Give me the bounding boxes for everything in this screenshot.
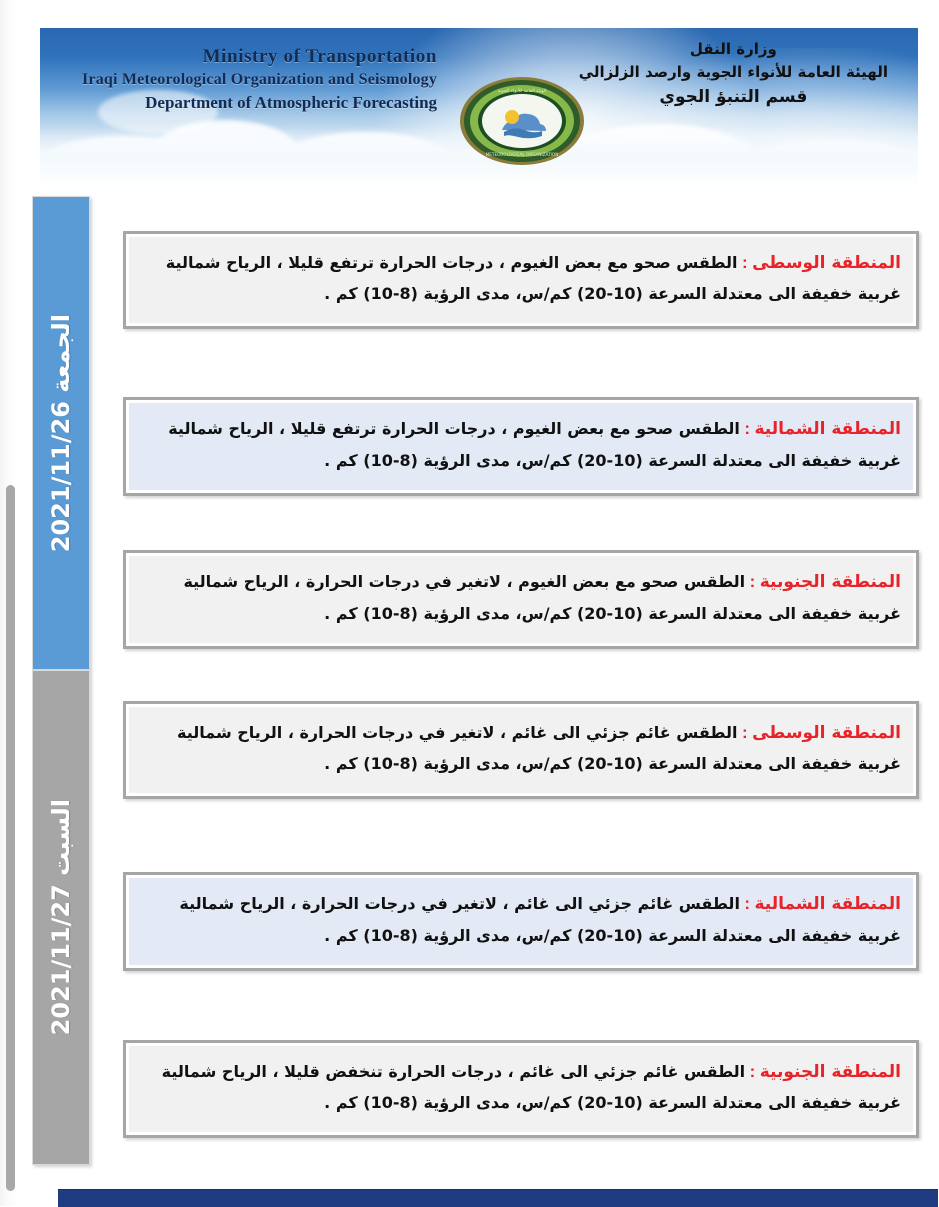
forecast-slot: المنطقة الوسطى : الطقس صحو مع بعض الغيوم… <box>95 196 939 364</box>
region-name: المنطقة الشمالية <box>755 894 902 914</box>
day-group-friday: الجمعة 2021/11/26 المنطقة الوسطى : الطقس… <box>18 196 939 670</box>
region-separator: : <box>744 419 750 438</box>
region-separator: : <box>744 894 750 913</box>
region-separator: : <box>750 572 756 591</box>
forecast-slot: المنطقة الجنوبية : الطقس غائم جزئي الى غ… <box>95 1013 939 1165</box>
forecast-slot: المنطقة الشمالية : الطقس غائم جزئي الى غ… <box>95 830 939 1013</box>
forecast-box: المنطقة الشمالية : الطقس غائم جزئي الى غ… <box>123 872 919 970</box>
department-title-en: Department of Atmospheric Forecasting <box>96 93 437 113</box>
forecast-box-inner: المنطقة الشمالية : الطقس صحو مع بعض الغي… <box>129 403 913 489</box>
day-date-label-friday: الجمعة 2021/11/26 <box>32 196 90 670</box>
region-separator: : <box>742 253 748 272</box>
day-group-saturday: السبت 2021/11/27 المنطقة الوسطى : الطقس … <box>18 670 939 1165</box>
organization-header-banner: Ministry of Transportation Iraqi Meteoro… <box>40 28 918 188</box>
region-separator: : <box>742 723 748 742</box>
region-name: المنطقة الجنوبية <box>760 572 901 592</box>
region-name: المنطقة الشمالية <box>755 419 902 439</box>
day-date-text: الجمعة 2021/11/26 <box>47 314 75 552</box>
organization-seal-icon: الهيئة العامة للأنواء الجوية METEOROLOGI… <box>458 76 586 166</box>
forecast-slot: المنطقة الوسطى : الطقس غائم جزئي الى غائ… <box>95 670 939 830</box>
region-name: المنطقة الوسطى <box>752 253 901 273</box>
region-name: المنطقة الوسطى <box>752 723 901 743</box>
footer-bar <box>58 1189 938 1207</box>
day-date-text: السبت 2021/11/27 <box>47 799 75 1035</box>
forecast-box: المنطقة الوسطى : الطقس غائم جزئي الى غائ… <box>123 701 919 799</box>
organization-title-ar: الهيئة العامة للأنواء الجوية وارصد الزلز… <box>579 63 888 81</box>
day-date-label-saturday: السبت 2021/11/27 <box>32 670 90 1165</box>
svg-text:الهيئة العامة للأنواء الجوية: الهيئة العامة للأنواء الجوية <box>498 87 547 94</box>
english-organization-title: Ministry of Transportation Iraqi Meteoro… <box>82 46 437 113</box>
region-column-friday: المنطقة الوسطى : الطقس صحو مع بعض الغيوم… <box>95 196 939 670</box>
forecast-body: الجمعة 2021/11/26 المنطقة الوسطى : الطقس… <box>18 196 939 1162</box>
region-separator: : <box>750 1062 756 1081</box>
region-column-saturday: المنطقة الوسطى : الطقس غائم جزئي الى غائ… <box>95 670 939 1165</box>
region-name: المنطقة الجنوبية <box>760 1062 901 1082</box>
forecast-box: المنطقة الجنوبية : الطقس صحو مع بعض الغي… <box>123 550 919 648</box>
forecast-box: المنطقة الشمالية : الطقس صحو مع بعض الغي… <box>123 397 919 495</box>
vertical-scrollbar-thumb[interactable] <box>6 485 15 1191</box>
ministry-title-en: Ministry of Transportation <box>150 46 437 68</box>
ministry-title-ar: وزارة النقل <box>579 40 888 58</box>
vertical-scrollbar-track[interactable] <box>0 0 18 1206</box>
forecast-box-inner: المنطقة الوسطى : الطقس غائم جزئي الى غائ… <box>129 707 913 793</box>
department-title-ar: قسم التنبؤ الجوي <box>579 87 888 107</box>
forecast-box-inner: المنطقة الجنوبية : الطقس غائم جزئي الى غ… <box>129 1046 913 1132</box>
forecast-slot: المنطقة الشمالية : الطقس صحو مع بعض الغي… <box>95 364 939 529</box>
forecast-slot: المنطقة الجنوبية : الطقس صحو مع بعض الغي… <box>95 529 939 670</box>
svg-text:METEOROLOGICAL ORGANIZATION: METEOROLOGICAL ORGANIZATION <box>486 152 559 157</box>
forecast-box-inner: المنطقة الجنوبية : الطقس صحو مع بعض الغي… <box>129 556 913 642</box>
arabic-organization-title: وزارة النقل الهيئة العامة للأنواء الجوية… <box>579 40 888 107</box>
forecast-box: المنطقة الجنوبية : الطقس غائم جزئي الى غ… <box>123 1040 919 1138</box>
forecast-box-inner: المنطقة الوسطى : الطقس صحو مع بعض الغيوم… <box>129 237 913 323</box>
forecast-box: المنطقة الوسطى : الطقس صحو مع بعض الغيوم… <box>123 231 919 329</box>
document-sheet: Ministry of Transportation Iraqi Meteoro… <box>18 0 939 1206</box>
organization-title-en: Iraqi Meteorological Organization and Se… <box>82 71 437 89</box>
forecast-box-inner: المنطقة الشمالية : الطقس غائم جزئي الى غ… <box>129 878 913 964</box>
